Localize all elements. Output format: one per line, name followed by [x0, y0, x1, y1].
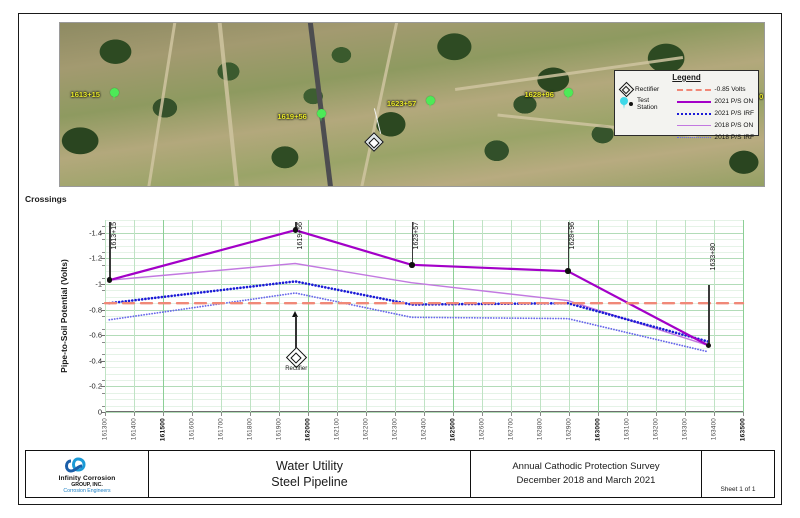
- rectifier-label: Rectifier: [279, 366, 313, 372]
- test-station-pin-icon: [426, 96, 435, 109]
- ts-point: [409, 262, 415, 268]
- ts-point: [565, 268, 571, 274]
- x-tick-label: 162500: [450, 418, 457, 441]
- legend-swatch: [677, 97, 711, 106]
- x-tick-label: 162900: [566, 418, 573, 440]
- x-tick-label: 162200: [363, 418, 370, 440]
- crossings-label: Crossings: [25, 194, 67, 204]
- x-tick-label: 162300: [392, 418, 399, 440]
- legend-series-item: 2021 P/S IRF: [677, 107, 754, 119]
- x-tick-label: 163500: [740, 418, 747, 441]
- test-station-pin-icon: [619, 96, 634, 111]
- ts-stem: [708, 285, 710, 345]
- legend-rectifier-label: Rectifier: [635, 86, 659, 93]
- legend-title: Legend: [619, 73, 754, 82]
- map-pin-label: 1623+57: [387, 99, 416, 108]
- x-tick-label: 161700: [218, 418, 225, 440]
- sheet-number: Sheet 1 of 1: [720, 486, 755, 493]
- title-block: Infinity Corrosion GROUP, INC. Corrosion…: [25, 450, 775, 498]
- legend-series-label: 2018 P/S IRF: [714, 134, 754, 141]
- x-tick-label: 161900: [276, 418, 283, 440]
- ts-label: 1628+96: [569, 222, 576, 249]
- map-pin-label: 1628+96: [524, 90, 553, 99]
- legend-swatch: [677, 85, 711, 94]
- map-pin-label: 1613+15: [71, 90, 100, 99]
- test-station-pin-icon: [317, 109, 326, 122]
- y-axis-label: Pipe-to-Soil Potential (Volts): [59, 259, 69, 373]
- legend: Legend Rectifier Test: [614, 70, 759, 136]
- legend-series-item: 2018 P/S IRF: [677, 131, 754, 143]
- ts-label-2: Station: [637, 104, 658, 111]
- series-line: [109, 293, 708, 352]
- ts-label: 1633+80: [710, 243, 717, 270]
- ts-label: 1623+57: [413, 222, 420, 249]
- company-logo: Infinity Corrosion GROUP, INC. Corrosion…: [26, 451, 149, 497]
- survey-line-2: December 2018 and March 2021: [517, 474, 656, 488]
- sheet-number-cell: Sheet 1 of 1: [702, 451, 774, 497]
- x-tick-label: 161300: [102, 418, 109, 440]
- drawing-sheet: 1613+151619+561623+571628+961633+80 Lege…: [18, 13, 782, 505]
- series-line: [109, 230, 708, 345]
- x-tick-label: 163400: [711, 418, 718, 440]
- potential-chart: Pipe-to-Soil Potential (Volts) 0-0.2-0.4…: [61, 210, 761, 422]
- rectifier-diamond-icon: [365, 133, 382, 150]
- ts-label-1: Test: [637, 97, 649, 104]
- legend-series-item: -0.85 Volts: [677, 83, 754, 95]
- x-tick-label: 161500: [160, 418, 167, 441]
- legend-series-item: 2021 P/S ON: [677, 95, 754, 107]
- ts-label: 1613+15: [111, 222, 118, 249]
- infinity-logo-icon: [64, 455, 110, 475]
- x-tick-label: 161800: [247, 418, 254, 440]
- legend-swatch: [677, 109, 711, 118]
- x-tick-label: 162700: [508, 418, 515, 440]
- project-line-1: Water Utility: [276, 458, 343, 474]
- aerial-photo: 1613+151619+561623+571628+961633+80 Lege…: [59, 22, 765, 187]
- x-tick-label: 161400: [131, 418, 138, 440]
- x-tick-label: 162000: [305, 418, 312, 441]
- legend-test-station-label: Test Station: [637, 97, 658, 111]
- x-tick-label: 163000: [595, 418, 602, 441]
- x-tick-label: 163100: [624, 418, 631, 440]
- survey-title: Annual Cathodic Protection Survey Decemb…: [471, 451, 702, 497]
- series-lines: [105, 220, 745, 414]
- legend-series-label: 2021 P/S IRF: [714, 110, 754, 117]
- map-pin-label: 1619+56: [277, 112, 306, 121]
- x-tick-label: 162600: [479, 418, 486, 440]
- x-tick-label: 162800: [537, 418, 544, 440]
- survey-line-1: Annual Cathodic Protection Survey: [512, 460, 659, 474]
- plot-area: 0-0.2-0.4-0.6-0.8-1-1.2-1.4 161300161400…: [105, 220, 743, 412]
- test-station-pin-icon: [110, 88, 119, 101]
- rectifier-diamond-icon: [619, 83, 632, 96]
- logo-name: Infinity Corrosion: [59, 475, 116, 482]
- legend-series-label: 2018 P/S ON: [714, 122, 753, 129]
- legend-symbol-rectifier: Rectifier: [619, 83, 675, 95]
- test-station-pin-icon: [564, 88, 573, 101]
- legend-series-label: 2021 P/S ON: [714, 98, 753, 105]
- legend-swatch: [677, 133, 711, 142]
- legend-series-item: 2018 P/S ON: [677, 119, 754, 131]
- project-line-2: Steel Pipeline: [271, 474, 347, 490]
- legend-symbol-test-station: Test Station: [619, 95, 675, 112]
- x-tick-label: 163200: [653, 418, 660, 440]
- legend-series-list: -0.85 Volts 2021 P/S ON 2021 P/S IRF 201…: [677, 83, 754, 143]
- x-tick-label: 163300: [682, 418, 689, 440]
- logo-tagline: Corrosion Engineers: [63, 488, 110, 494]
- x-tick-label: 162100: [334, 418, 341, 440]
- x-tick-label: 162400: [421, 418, 428, 440]
- legend-series-label: -0.85 Volts: [714, 86, 745, 93]
- legend-swatch: [677, 121, 711, 130]
- project-title: Water Utility Steel Pipeline: [149, 451, 471, 497]
- x-tick-label: 161600: [189, 418, 196, 440]
- series-line: [109, 281, 708, 341]
- ts-label: 1619+56: [297, 222, 304, 249]
